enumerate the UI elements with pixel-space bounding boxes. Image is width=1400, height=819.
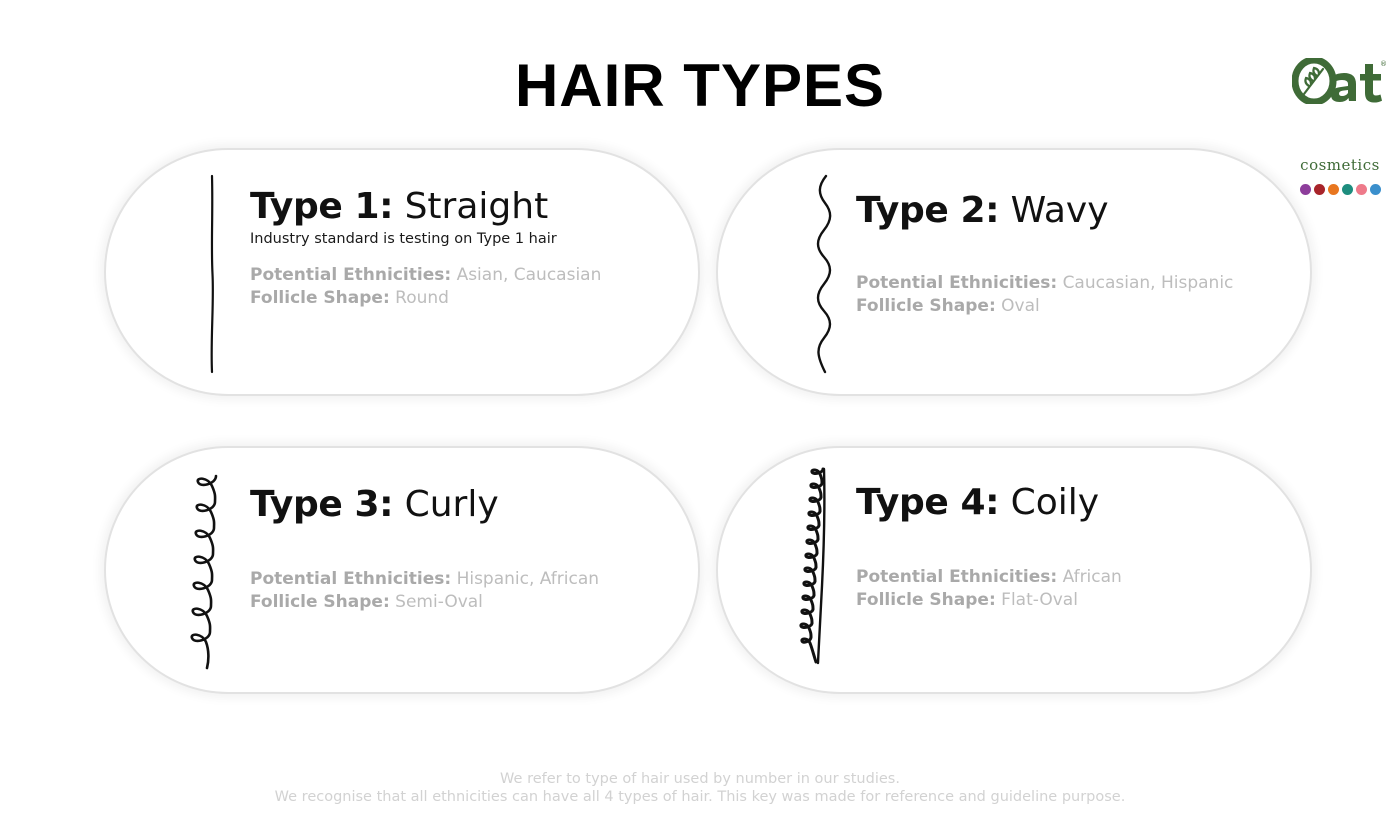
type-name-label: Coily — [1011, 482, 1099, 523]
card-meta-type-2: Potential Ethnicities: Caucasian, Hispan… — [856, 272, 1292, 318]
card-meta-type-3: Potential Ethnicities: Hispanic, African… — [250, 568, 680, 614]
hair-type-card-type-2[interactable]: Type 2: Wavy Potential Ethnicities: Cauc… — [716, 148, 1312, 396]
type-name-label: Wavy — [1011, 190, 1109, 231]
type-number-label: Type 4: — [856, 482, 999, 523]
ethnicities-value: Caucasian, Hispanic — [1063, 273, 1234, 293]
hair-type-card-type-4[interactable]: Type 4: Coily Potential Ethnicities: Afr… — [716, 446, 1312, 694]
meta-row-follicle: Follicle Shape: Flat-Oval — [856, 589, 1292, 612]
card-heading-type-1: Type 1: Straight — [250, 188, 680, 226]
coily-hair-strand-icon — [794, 466, 854, 666]
hair-type-card-type-3[interactable]: Type 3: Curly Potential Ethnicities: His… — [104, 446, 700, 694]
hair-types-grid: Type 1: Straight Industry standard is te… — [0, 0, 1400, 819]
ethnicities-label: Potential Ethnicities: — [250, 265, 451, 285]
ethnicities-label: Potential Ethnicities: — [856, 567, 1057, 587]
follicle-value: Oval — [1001, 296, 1040, 316]
footer-line-1: We refer to type of hair used by number … — [0, 770, 1400, 788]
ethnicities-value: Hispanic, African — [457, 569, 599, 589]
meta-row-follicle: Follicle Shape: Oval — [856, 295, 1292, 318]
card-heading-type-3: Type 3: Curly — [250, 486, 680, 524]
follicle-label: Follicle Shape: — [250, 288, 390, 308]
follicle-value: Semi-Oval — [395, 592, 483, 612]
card-body-type-3: Type 3: Curly Potential Ethnicities: His… — [250, 486, 680, 614]
card-heading-type-2: Type 2: Wavy — [856, 192, 1292, 230]
hair-type-card-type-1[interactable]: Type 1: Straight Industry standard is te… — [104, 148, 700, 396]
card-meta-type-4: Potential Ethnicities: African Follicle … — [856, 566, 1292, 612]
footer-line-2: We recognise that all ethnicities can ha… — [0, 788, 1400, 806]
straight-hair-strand-icon — [182, 174, 242, 374]
ethnicities-value: African — [1063, 567, 1122, 587]
card-body-type-4: Type 4: Coily Potential Ethnicities: Afr… — [856, 484, 1292, 612]
follicle-label: Follicle Shape: — [250, 592, 390, 612]
ethnicities-label: Potential Ethnicities: — [856, 273, 1057, 293]
card-body-type-2: Type 2: Wavy Potential Ethnicities: Cauc… — [856, 192, 1292, 318]
meta-row-ethnicities: Potential Ethnicities: Hispanic, African — [250, 568, 680, 591]
follicle-value: Flat-Oval — [1001, 590, 1078, 610]
meta-row-ethnicities: Potential Ethnicities: African — [856, 566, 1292, 589]
type-number-label: Type 2: — [856, 190, 999, 231]
type-number-label: Type 3: — [250, 484, 393, 525]
meta-row-ethnicities: Potential Ethnicities: Asian, Caucasian — [250, 264, 680, 287]
card-meta-type-1: Potential Ethnicities: Asian, Caucasian … — [250, 264, 680, 310]
follicle-label: Follicle Shape: — [856, 296, 996, 316]
card-body-type-1: Type 1: Straight Industry standard is te… — [250, 188, 680, 310]
type-name-label: Curly — [405, 484, 499, 525]
wavy-hair-strand-icon — [794, 174, 854, 374]
curly-hair-strand-icon — [182, 472, 242, 672]
meta-row-ethnicities: Potential Ethnicities: Caucasian, Hispan… — [856, 272, 1292, 295]
footer-disclaimer: We refer to type of hair used by number … — [0, 770, 1400, 806]
meta-row-follicle: Follicle Shape: Round — [250, 287, 680, 310]
card-heading-type-4: Type 4: Coily — [856, 484, 1292, 522]
card-note-type-1: Industry standard is testing on Type 1 h… — [250, 231, 680, 248]
ethnicities-label: Potential Ethnicities: — [250, 569, 451, 589]
type-name-label: Straight — [405, 186, 549, 227]
meta-row-follicle: Follicle Shape: Semi-Oval — [250, 591, 680, 614]
follicle-label: Follicle Shape: — [856, 590, 996, 610]
follicle-value: Round — [395, 288, 449, 308]
ethnicities-value: Asian, Caucasian — [457, 265, 602, 285]
type-number-label: Type 1: — [250, 186, 393, 227]
